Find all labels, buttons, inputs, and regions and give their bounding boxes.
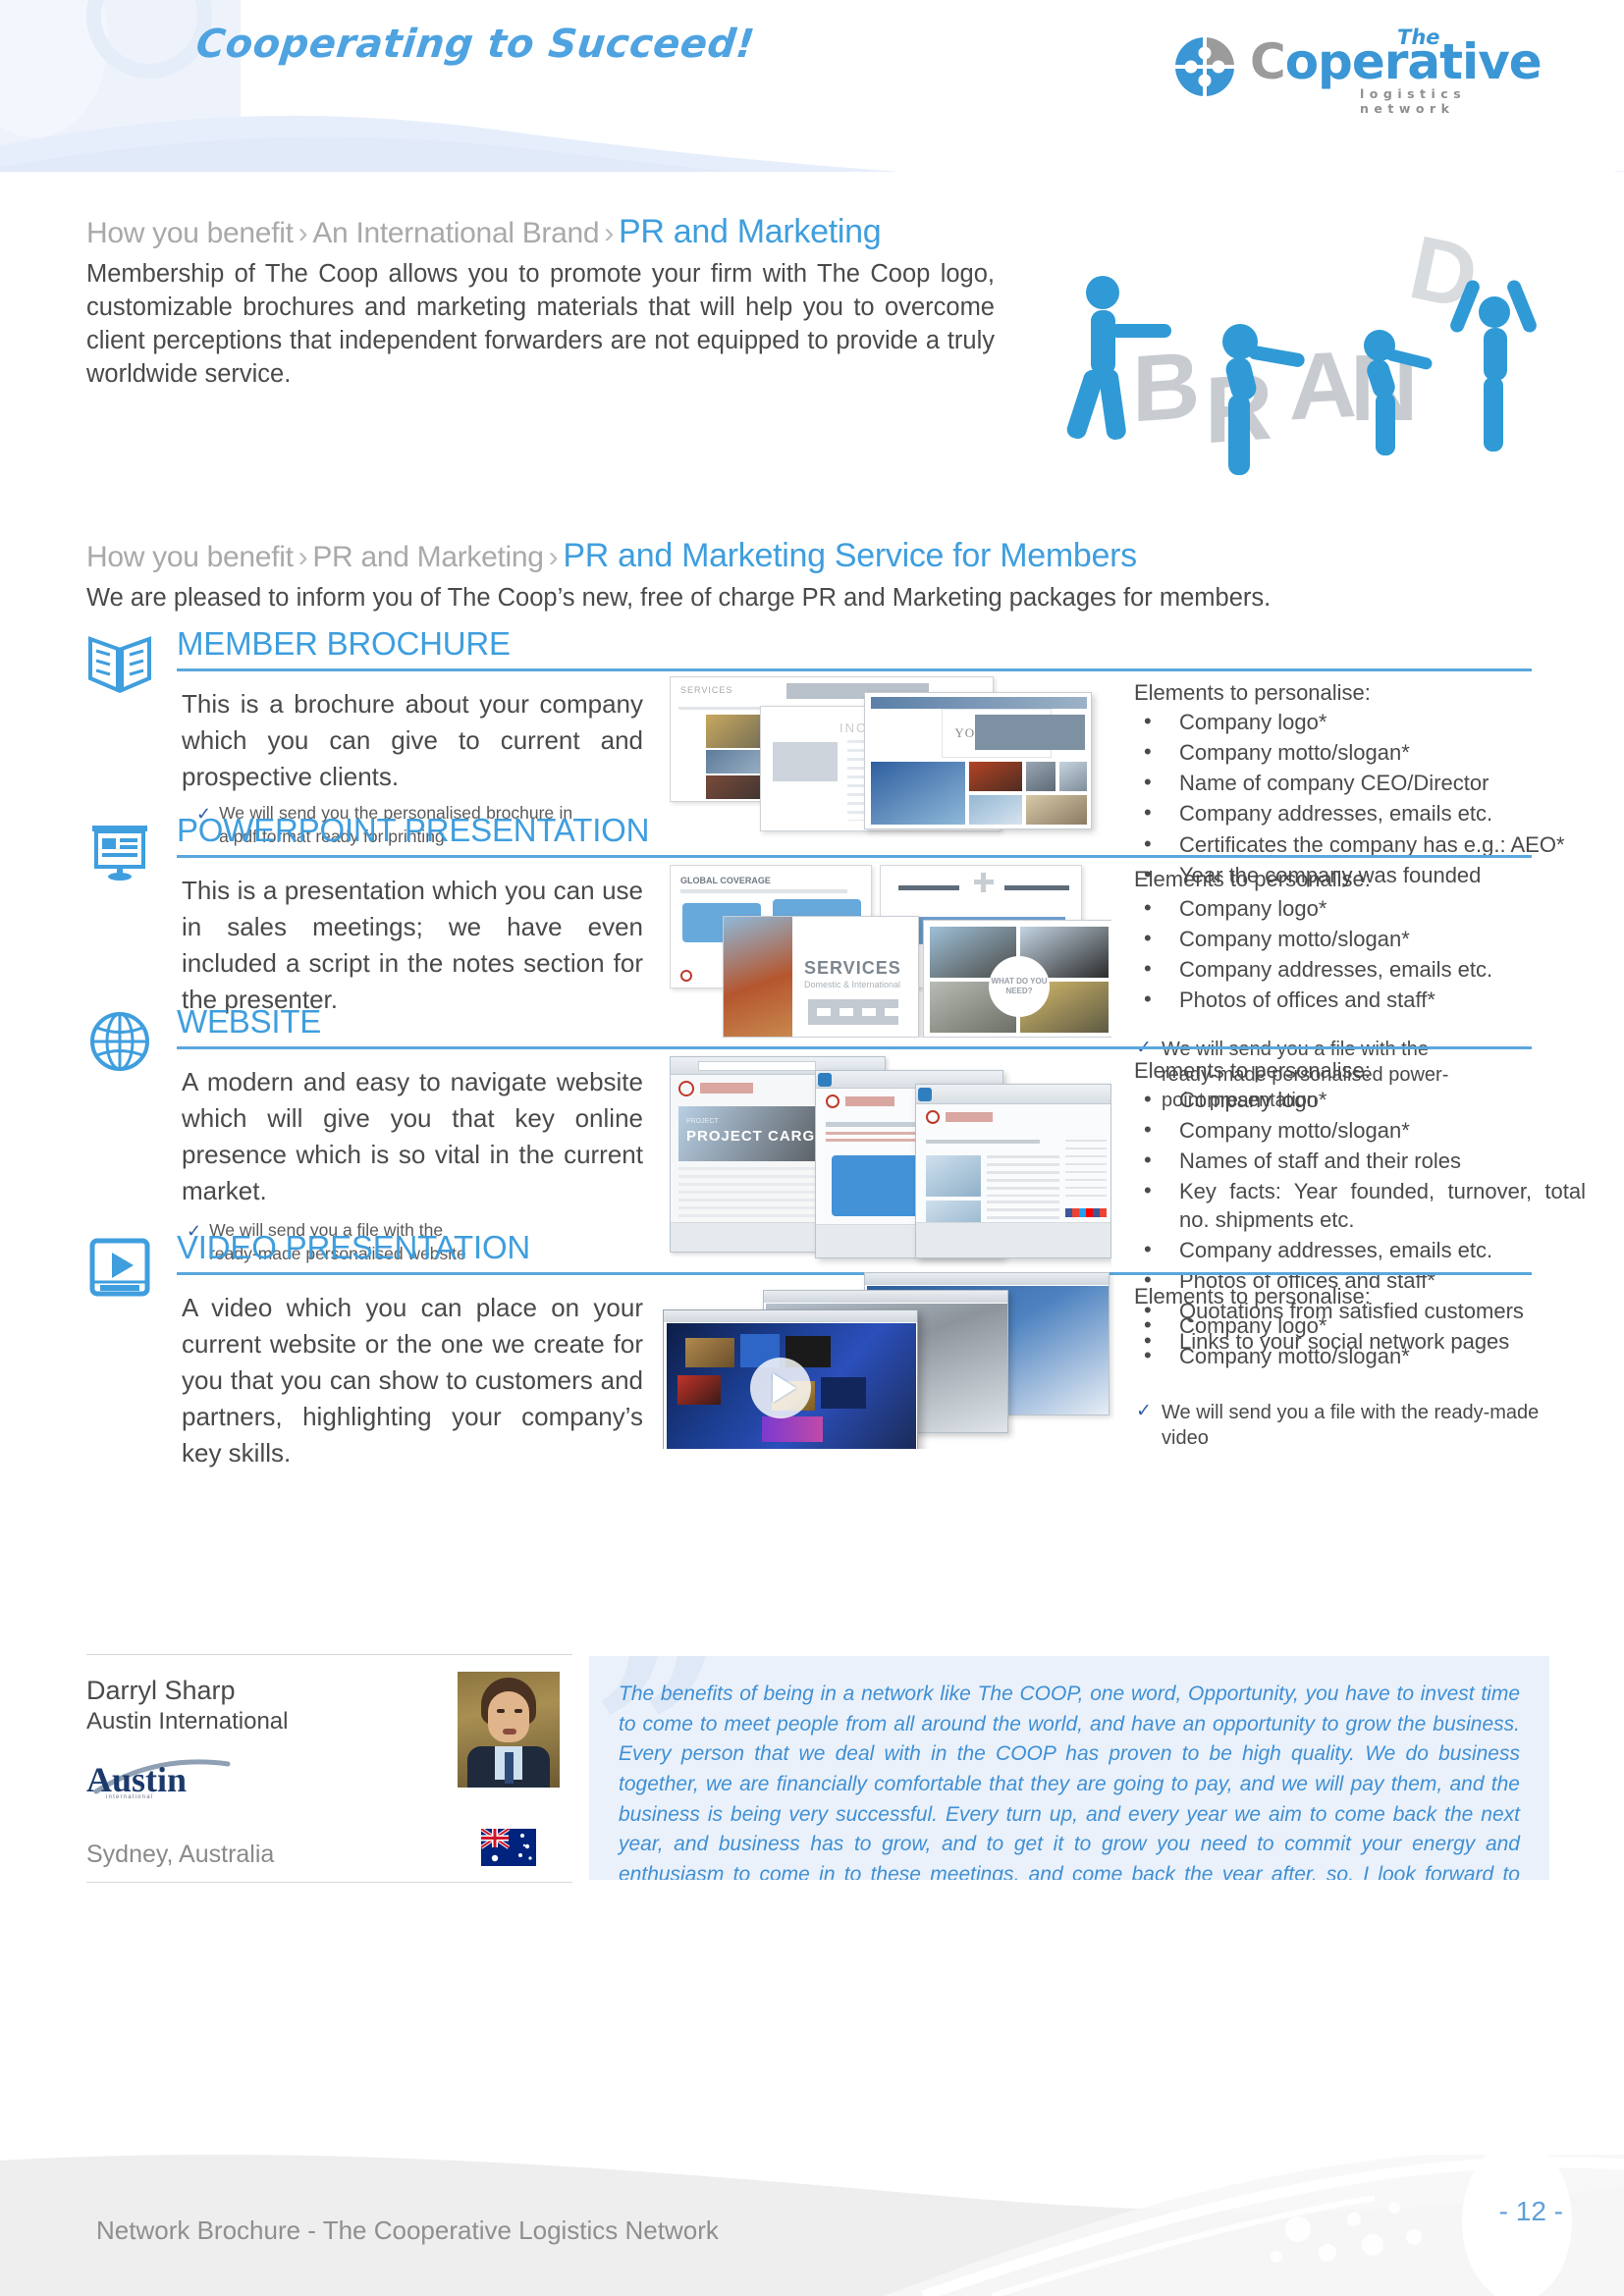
website-mockup-thumb-1: [926, 1155, 981, 1197]
austin-international-logo: Austin international: [86, 1752, 234, 1799]
brochure-mockup-photo-6: [969, 762, 1022, 791]
list-item: Company logo*: [1134, 709, 1586, 736]
list-item: Company addresses, emails etc.: [1134, 1237, 1586, 1264]
testimonial-divider-bottom: [86, 1882, 572, 1883]
breadcrumb: How you benefit›An International Brand›P…: [86, 213, 881, 251]
page-number: - 12 -: [1499, 2196, 1563, 2227]
list-item: Company addresses, emails etc.: [1134, 956, 1586, 984]
website-mockup-address-bar: [698, 1061, 816, 1071]
logo-cooperative-text: Coperative: [1250, 37, 1542, 86]
testimonial-location: Sydney, Australia: [86, 1841, 274, 1869]
breadcrumb-current: PR and Marketing Service for Members: [563, 537, 1136, 574]
avatar-face: [488, 1691, 529, 1742]
brochure-mockup-photo-10: [1026, 795, 1087, 825]
brochure-mockup-photo-9: [969, 795, 1022, 825]
page-header: Cooperating to Succeed! The: [0, 0, 1624, 172]
austin-logo-svg: Austin international: [86, 1752, 234, 1799]
breadcrumb-item-1[interactable]: How you benefit: [86, 217, 294, 249]
powerpoint-mockup-text-2: [1004, 885, 1069, 890]
list-item: Company motto/slogan*: [1134, 739, 1586, 767]
brochure-mockup-page-3: YOUR LOGO: [864, 692, 1092, 829]
website-mockup-browser-icon: [818, 1073, 832, 1087]
website-mockup-browser-icon: [918, 1088, 932, 1101]
powerpoint-mockup-plus-v: [981, 873, 986, 892]
list-item: Name of company CEO/Director: [1134, 770, 1586, 797]
puzzle-circle-logo-mark: [1173, 35, 1236, 98]
list-item: Company addresses, emails etc.: [1134, 800, 1586, 828]
list-item: Company motto/slogan*: [1134, 926, 1586, 953]
avatar: [458, 1672, 560, 1788]
section-title: WEBSITE: [177, 1003, 321, 1041]
video-mockup-titlebar: [764, 1291, 1008, 1303]
video-play-icon: [86, 1237, 153, 1298]
website-mockup-logo: [926, 1110, 940, 1124]
video-mockup-frame-1: [663, 1309, 918, 1449]
section-rule: [177, 855, 1532, 858]
section-body: This is a presentation which you can use…: [182, 873, 643, 1018]
breadcrumb-service: How you benefit›PR and Marketing›PR and …: [86, 537, 1137, 575]
section-rule: [177, 1046, 1532, 1049]
globe-icon: [86, 1011, 153, 1072]
breadcrumb-separator-2: ›: [544, 541, 564, 573]
elements-list-brochure: Elements to personalise: Company logo* C…: [1134, 680, 1586, 892]
breadcrumb-separator-2: ›: [599, 217, 619, 249]
website-mockup-logo: [678, 1081, 694, 1096]
brochure-mockup-block: [773, 742, 838, 781]
section-body: This is a brochure about your company wh…: [182, 686, 643, 795]
testimonial-quote: The benefits of being in a network like …: [589, 1656, 1549, 1880]
breadcrumb: How you benefit›PR and Marketing›PR and …: [86, 537, 1137, 575]
powerpoint-mockup-icon-grid: [808, 999, 898, 1025]
list-item: Company motto/slogan*: [1134, 1117, 1586, 1145]
website-mockup-thumb-text-1: [987, 1155, 1059, 1197]
page-footer: Network Brochure - The Cooperative Logis…: [0, 2155, 1624, 2296]
breadcrumb-intro: How you benefit›An International Brand›P…: [86, 213, 881, 251]
open-brochure-icon: [86, 633, 153, 694]
list-item: Company logo*: [1134, 1087, 1586, 1114]
website-mockup-logo-text: [845, 1096, 894, 1106]
breadcrumb-item-2[interactable]: PR and Marketing: [312, 541, 543, 573]
testimonial-divider-top: [86, 1654, 572, 1655]
brochure-mockup-photo-7: [1026, 762, 1056, 791]
powerpoint-mockup-subtitle: [680, 889, 847, 893]
logo-c-letter: C: [1250, 33, 1285, 90]
elements-list-video: Elements to personalise: Company logo* C…: [1134, 1284, 1586, 1451]
website-mockup-logo-text: [946, 1112, 993, 1122]
website-mockup-heading: [926, 1140, 1040, 1144]
section-title: MEMBER BROCHURE: [177, 625, 511, 663]
list-item: Company motto/slogan*: [1134, 1343, 1586, 1370]
powerpoint-mockup-label-domestic: Domestic & International: [804, 980, 900, 989]
brochure-mockup-photo-8: [1059, 762, 1087, 791]
website-mockup-browser-3: [915, 1084, 1111, 1258]
list-item: Company logo*: [1134, 1312, 1586, 1340]
website-mockup-hero-title: PROJECT CARGO: [686, 1128, 828, 1145]
website-mockup-hero-eyebrow: PROJECT: [686, 1118, 719, 1125]
svg-text:A: A: [1289, 332, 1357, 441]
australia-flag-svg: [481, 1829, 536, 1866]
powerpoint-mockup-photo: [724, 917, 792, 1038]
video-mockup-tile-4: [677, 1375, 721, 1405]
svg-text:international: international: [106, 1794, 153, 1799]
website-mockup-sidebar: [1065, 1140, 1107, 1199]
logo-subtitle: logistics network: [1360, 86, 1466, 116]
powerpoint-mockup-slide-3: SERVICES Domestic & International: [723, 916, 919, 1038]
avatar-eye-right: [514, 1709, 522, 1713]
website-mockup-social-icons: [1065, 1208, 1107, 1217]
section-title: POWERPOINT PRESENTATION: [177, 812, 649, 849]
video-mockup-titlebar: [664, 1310, 918, 1322]
page-tagline: Cooperating to Succeed!: [194, 22, 757, 67]
video-play-button[interactable]: [750, 1358, 811, 1418]
section-title: VIDEO PRESENTATION: [177, 1229, 530, 1266]
video-mockup-titlebar: [865, 1273, 1110, 1285]
powerpoint-mockup-label-global: GLOBAL COVERAGE: [680, 876, 771, 885]
presentation-screen-icon: [86, 822, 153, 882]
avatar-mouth: [503, 1729, 516, 1735]
elements-heading: Elements to personalise:: [1134, 867, 1586, 892]
list-item: Key facts: Year founded, turnover, total…: [1134, 1178, 1586, 1233]
brochure-page: Cooperating to Succeed! The: [0, 0, 1624, 2296]
intro-paragraph: Membership of The Coop allows you to pro…: [86, 258, 995, 392]
elements-heading: Elements to personalise:: [1134, 680, 1586, 706]
website-mockup-group: PROJECT PROJECT CARGO: [670, 1052, 1111, 1268]
video-mockup-tile-6: [821, 1377, 866, 1409]
section-check-note: We will send you a file with the ready-m…: [1134, 1400, 1566, 1451]
breadcrumb-current: PR and Marketing: [619, 213, 881, 250]
brochure-mockup-group: SERVICES INCOTERMS YOUR LOGO: [670, 670, 1107, 842]
breadcrumb-separator-1: ›: [294, 217, 313, 249]
testimonial-quote-box: ” The benefits of being in a network lik…: [589, 1656, 1549, 1880]
avatar-eye-left: [497, 1709, 505, 1713]
video-mockup-tile-1: [685, 1338, 734, 1367]
brochure-mockup-label-services: SERVICES: [680, 685, 732, 695]
section-body: A modern and easy to navigate website wh…: [182, 1064, 643, 1209]
list-item: Photos of offices and staff*: [1134, 987, 1586, 1014]
website-mockup-footer: [916, 1222, 1111, 1258]
svg-text:Austin: Austin: [86, 1760, 187, 1799]
brochure-mockup-header-strip: [975, 715, 1085, 750]
list-item: Names of staff and their roles: [1134, 1148, 1586, 1175]
list-item: Company logo*: [1134, 895, 1586, 923]
brochure-mockup-topbar: [871, 697, 1087, 709]
powerpoint-mockup-text-1: [898, 885, 959, 890]
cooperative-logo[interactable]: The Coperative logistics network: [1173, 27, 1556, 114]
powerpoint-mockup-label-what: WHAT DO YOU NEED?: [989, 956, 1050, 1017]
svg-text:B: B: [1132, 333, 1200, 443]
breadcrumb-item-2[interactable]: An International Brand: [312, 217, 599, 249]
video-mockup-tile-7: [762, 1416, 823, 1442]
elements-heading: Elements to personalise:: [1134, 1058, 1586, 1084]
footer-label: Network Brochure - The Cooperative Logis…: [96, 2216, 719, 2246]
website-mockup-logo-text: [700, 1083, 753, 1094]
service-intro-paragraph: We are pleased to inform you of The Coop…: [86, 582, 1481, 615]
powerpoint-mockup-logo-dot: [680, 970, 692, 982]
website-mockup-logo: [826, 1095, 839, 1108]
elements-heading: Elements to personalise:: [1134, 1284, 1586, 1309]
powerpoint-mockup-group: GLOBAL COVERAGE SERVICES Domestic: [670, 861, 1111, 1038]
powerpoint-mockup-label-services: SERVICES: [804, 958, 901, 979]
logo-operative-letters: operative: [1285, 33, 1542, 90]
play-triangle-icon: [773, 1373, 796, 1403]
section-body: A video which you can place on your curr…: [182, 1290, 643, 1471]
australia-flag-icon: [481, 1829, 536, 1866]
avatar-tie: [505, 1752, 514, 1784]
svg-text:D: D: [1401, 217, 1486, 329]
breadcrumb-item-1[interactable]: How you benefit: [86, 541, 294, 573]
brochure-mockup-photo-5: [871, 762, 965, 825]
website-mockup-browser-chrome: [916, 1085, 1111, 1104]
brand-letters-illustration: B R A N D: [1056, 196, 1566, 491]
breadcrumb-separator-1: ›: [294, 541, 313, 573]
video-mockup-group: [663, 1272, 1114, 1449]
powerpoint-mockup-slide-4: WHAT DO YOU NEED?: [923, 920, 1111, 1038]
